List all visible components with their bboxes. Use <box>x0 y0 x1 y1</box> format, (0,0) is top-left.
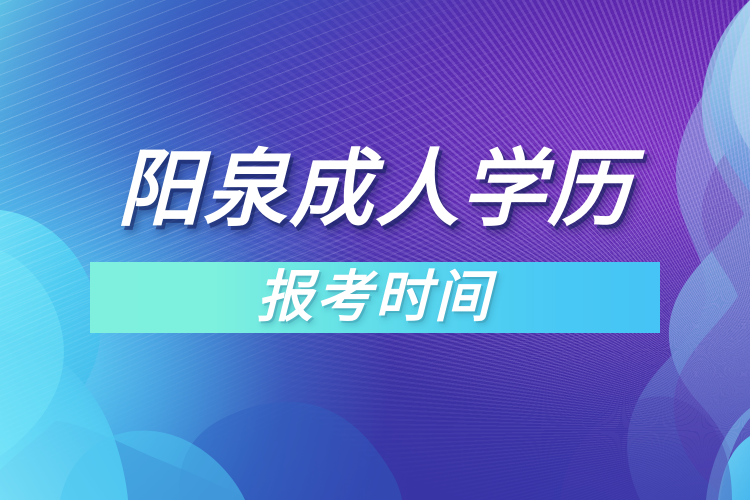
ribbon-shapes-group <box>0 0 750 500</box>
banner-image: 阳泉成人学历 报考时间 <box>0 0 750 500</box>
banner-title: 阳泉成人学历 <box>0 147 750 231</box>
banner-subtitle: 报考时间 <box>0 269 750 327</box>
